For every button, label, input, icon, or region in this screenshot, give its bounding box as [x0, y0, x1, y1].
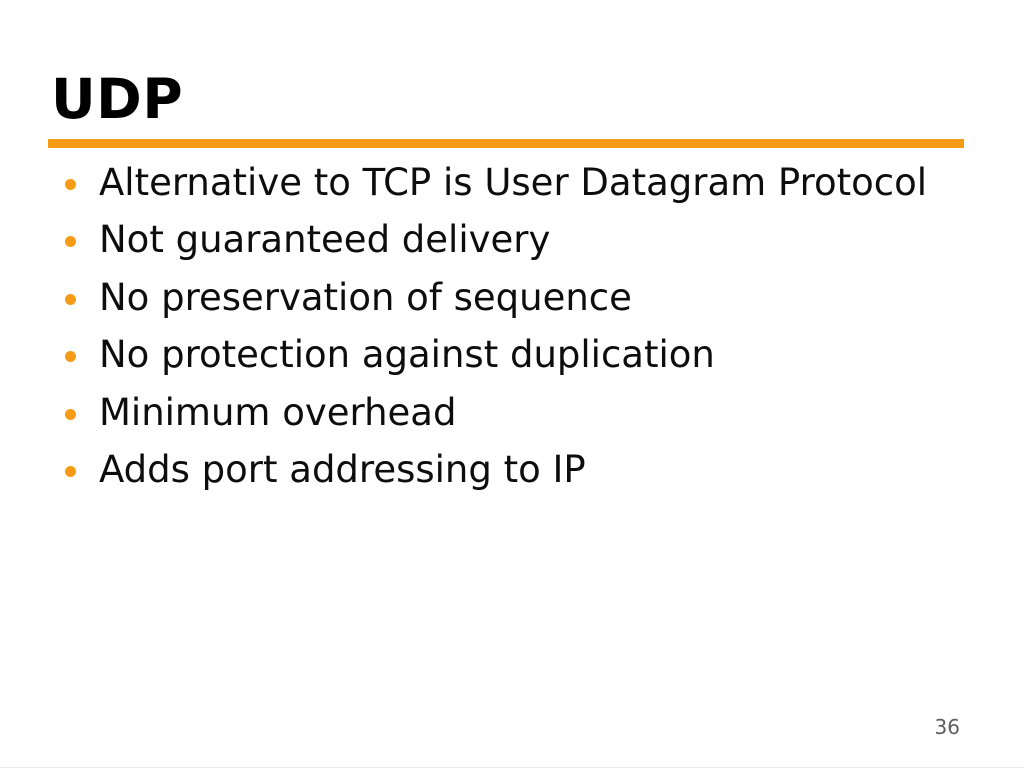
page-number: 36	[935, 716, 960, 738]
list-item-label: Adds port addressing to IP	[99, 447, 586, 492]
page-title: UDP	[51, 68, 971, 130]
bullet-dot-icon	[65, 294, 76, 305]
bullet-dot-icon	[65, 466, 76, 477]
list-item-label: Not guaranteed delivery	[99, 217, 550, 262]
list-item: Adds port addressing to IP	[51, 447, 981, 504]
list-item-label: Minimum overhead	[99, 390, 456, 435]
bullet-dot-icon	[65, 409, 76, 420]
list-item-label: Alternative to TCP is User Datagram Prot…	[99, 160, 927, 205]
bullet-list: Alternative to TCP is User Datagram Prot…	[51, 160, 981, 504]
list-item: Alternative to TCP is User Datagram Prot…	[51, 160, 981, 217]
bullet-dot-icon	[65, 351, 76, 362]
list-item: Minimum overhead	[51, 390, 981, 447]
list-item-label: No protection against duplication	[99, 332, 715, 377]
title-divider-rule	[48, 139, 964, 148]
bullet-dot-icon	[65, 236, 76, 247]
list-item: No protection against duplication	[51, 332, 981, 389]
list-item-label: No preservation of sequence	[99, 275, 632, 320]
presentation-slide: UDP Alternative to TCP is User Datagram …	[0, 0, 1024, 768]
bullet-dot-icon	[65, 179, 76, 190]
list-item: No preservation of sequence	[51, 275, 981, 332]
list-item: Not guaranteed delivery	[51, 217, 981, 274]
